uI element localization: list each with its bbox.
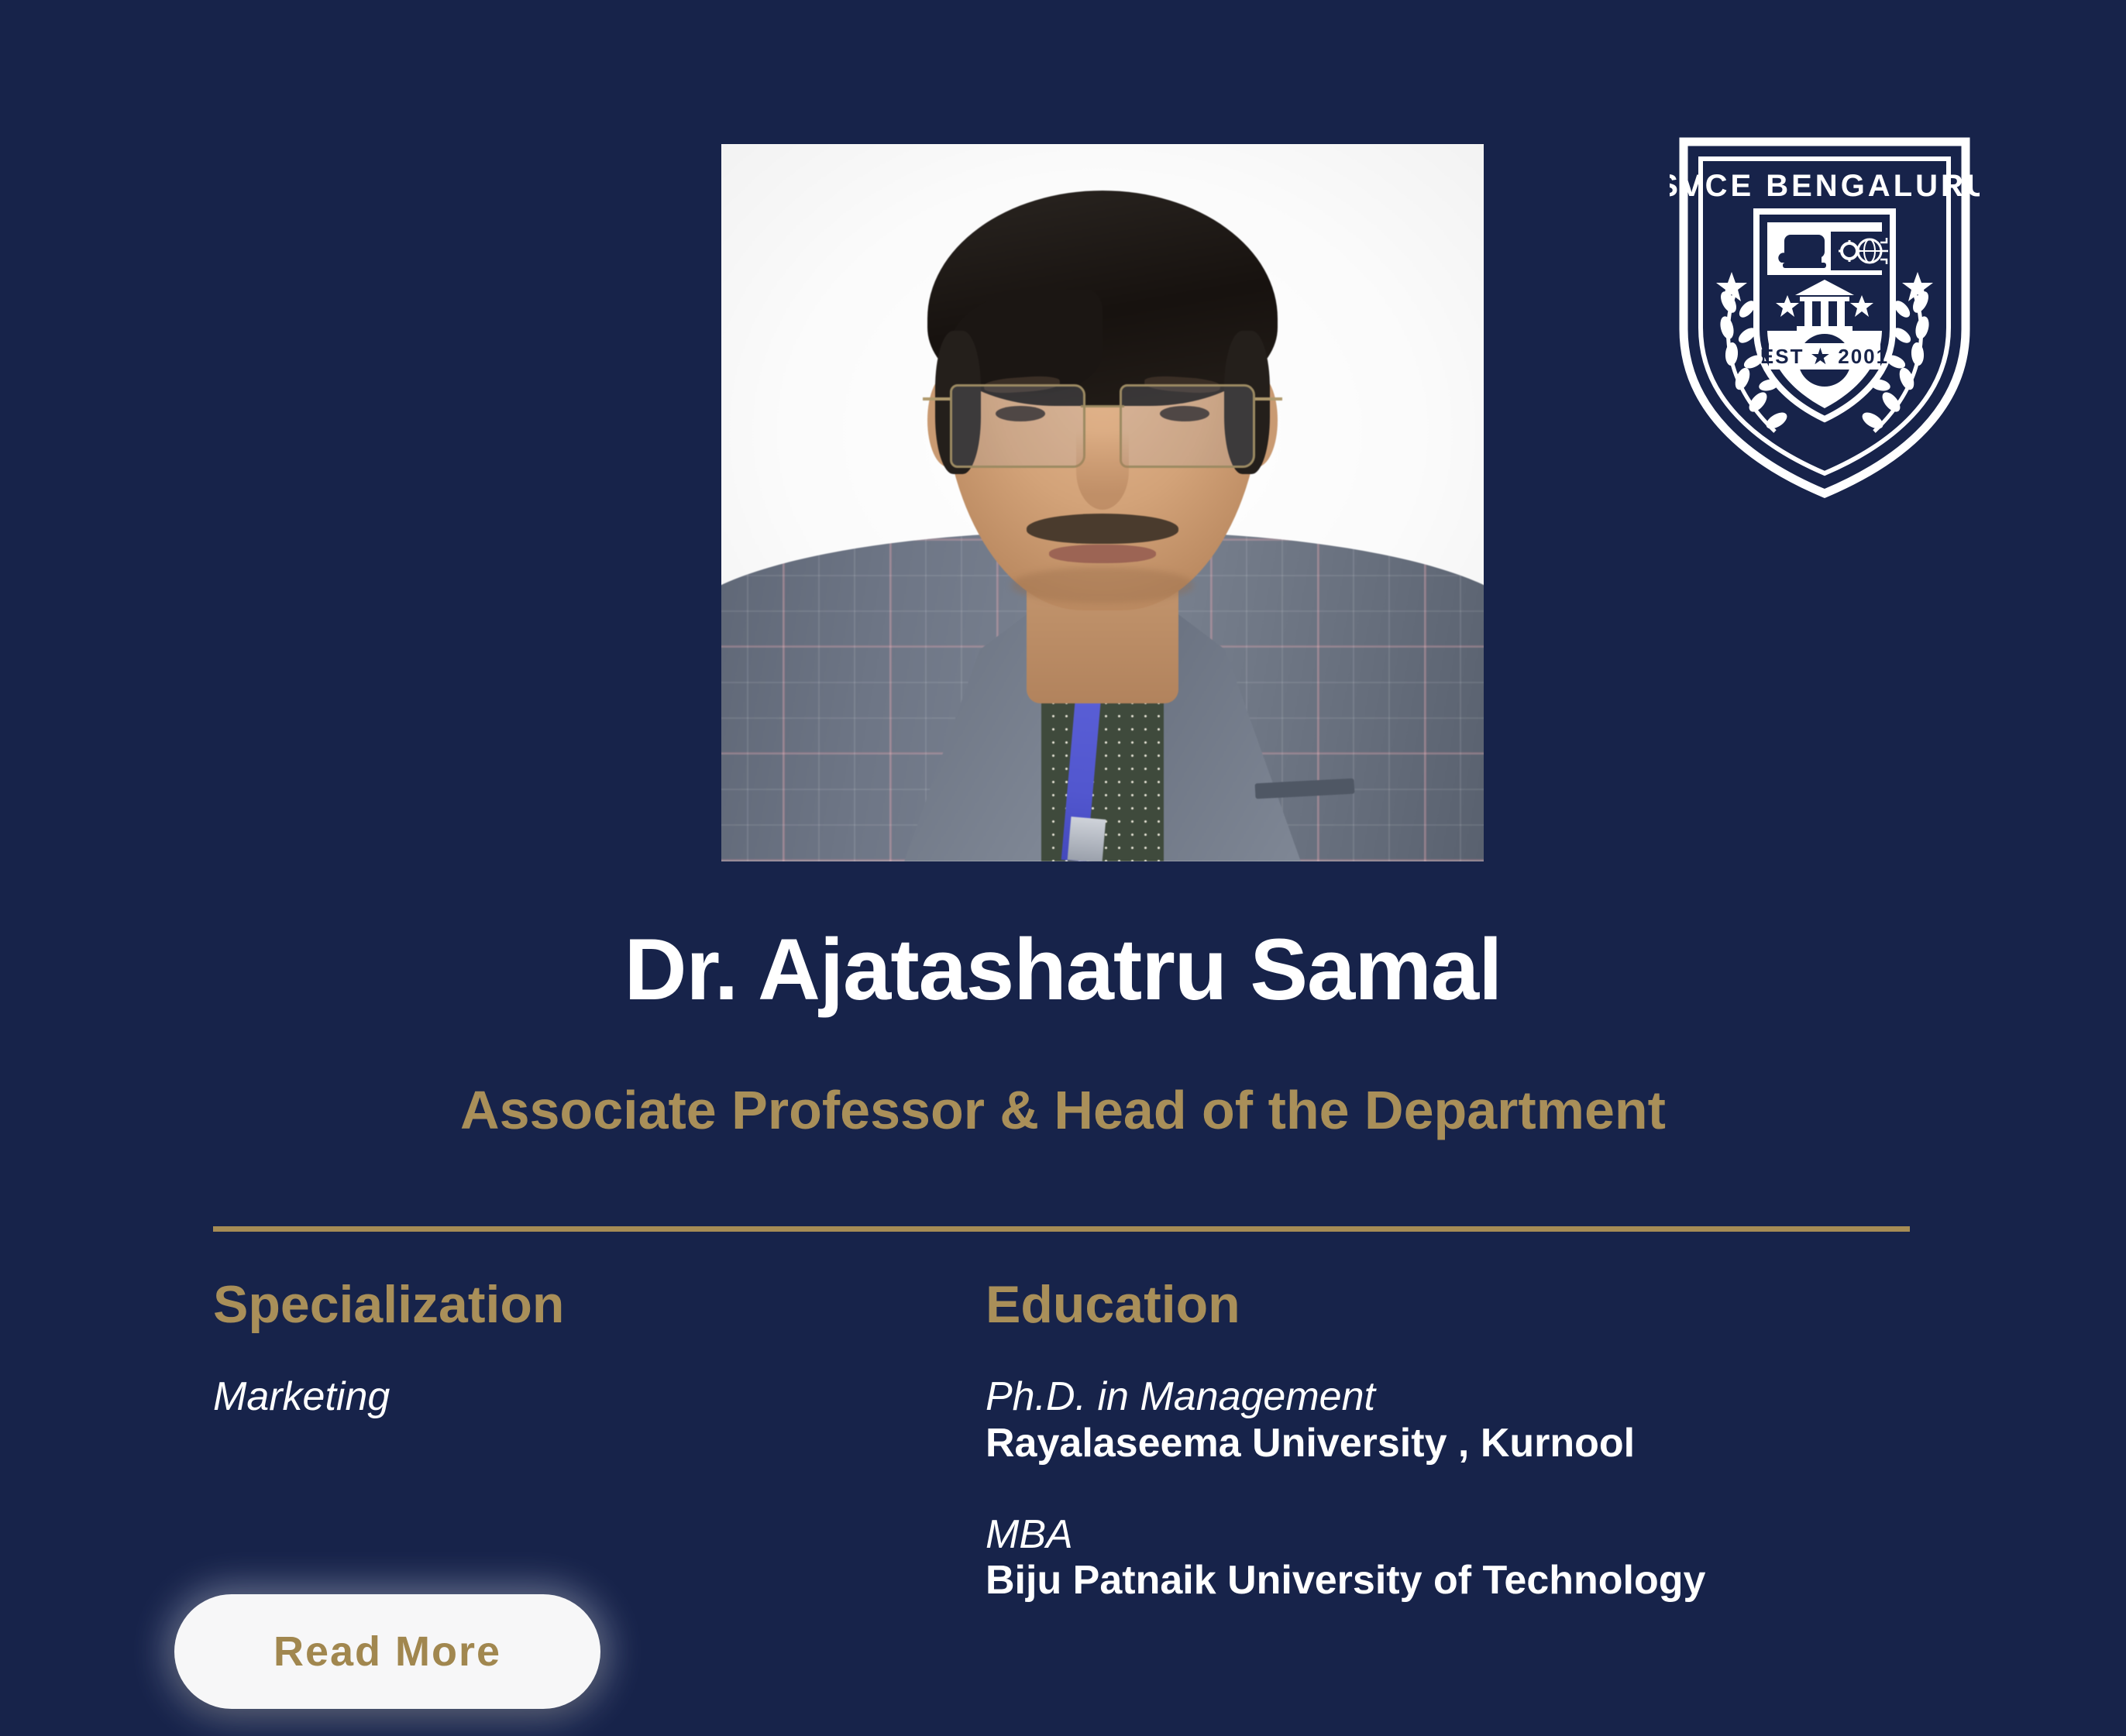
gear-globe-circuit-icon <box>1831 232 1888 270</box>
logo-top-text: SVCE BENGALURU <box>1670 169 1980 203</box>
education-entry: Ph.D. in Management Rayalaseema Universi… <box>986 1374 1993 1467</box>
id-badge <box>1067 817 1106 861</box>
designation-subtitle: Associate Professor & Head of the Depart… <box>0 1083 2126 1137</box>
portrait-illustration <box>721 144 1484 861</box>
education-entry: MBA Biju Patnaik University of Technolog… <box>986 1512 1993 1605</box>
education-degree: MBA <box>986 1512 1993 1559</box>
education-institution: Rayalaseema University , Kurnool <box>986 1421 1993 1467</box>
education-section: Education Ph.D. in Management Rayalaseem… <box>986 1278 1993 1604</box>
section-divider <box>213 1226 1910 1232</box>
education-degree: Ph.D. in Management <box>986 1374 1993 1421</box>
book-icon <box>1778 235 1826 268</box>
faculty-profile-card: SVCE BENGALURU <box>0 0 2126 1736</box>
logo-est-text: EST ★ 2001 <box>1760 345 1889 368</box>
svce-bengaluru-logo: SVCE BENGALURU <box>1670 136 1980 500</box>
education-heading: Education <box>986 1278 1993 1331</box>
specialization-heading: Specialization <box>213 1278 910 1331</box>
faculty-portrait <box>721 144 1484 861</box>
education-institution: Biju Patnaik University of Technology <box>986 1558 1993 1604</box>
page-title: Dr. Ajatashatru Samal <box>0 926 2126 1013</box>
specialization-section: Specialization Marketing <box>213 1278 910 1421</box>
specialization-value: Marketing <box>213 1374 910 1421</box>
read-more-button[interactable]: Read More <box>174 1594 600 1709</box>
